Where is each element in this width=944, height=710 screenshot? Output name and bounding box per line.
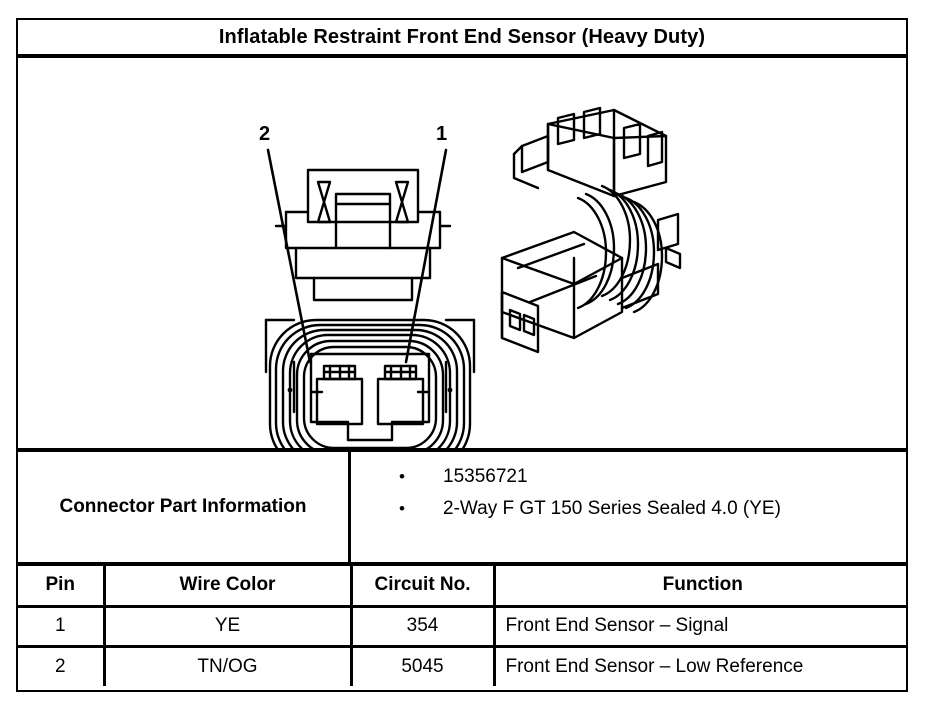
cell-function: Front End Sensor – Signal	[494, 606, 906, 646]
cell-circuit-no: 5045	[351, 646, 494, 686]
header-function: Function	[494, 566, 906, 606]
connector-part-information-row: Connector Part Information • 15356721 • …	[18, 452, 906, 566]
cell-function: Front End Sensor – Low Reference	[494, 646, 906, 686]
part-description-text: 2-Way F GT 150 Series Sealed 4.0 (YE)	[443, 498, 781, 520]
connector-part-information-label-text: Connector Part Information	[59, 496, 306, 518]
connector-latch-top	[276, 170, 450, 300]
table-row: 1 YE 354 Front End Sensor – Signal	[18, 606, 906, 646]
table-header-row: Pin Wire Color Circuit No. Function	[18, 566, 906, 606]
cell-wire-color: YE	[104, 606, 351, 646]
header-wire-color: Wire Color	[104, 566, 351, 606]
connector-line-art	[18, 62, 906, 452]
part-info-item: • 15356721	[399, 466, 906, 488]
connector-illustration: 2 1	[18, 62, 906, 452]
header-circuit-no: Circuit No.	[351, 566, 494, 606]
connector-face-outline	[266, 320, 474, 452]
terminal-cavity-right	[378, 366, 423, 424]
bullet-icon: •	[399, 468, 443, 485]
connector-part-information-label: Connector Part Information	[18, 452, 351, 562]
cell-wire-color: TN/OG	[104, 646, 351, 686]
title-band: Inflatable Restraint Front End Sensor (H…	[18, 20, 906, 58]
table-row: 2 TN/OG 5045 Front End Sensor – Low Refe…	[18, 646, 906, 686]
bullet-icon: •	[399, 500, 443, 517]
page-title: Inflatable Restraint Front End Sensor (H…	[219, 26, 705, 49]
connector-isometric-view	[502, 108, 680, 352]
cell-circuit-no: 354	[351, 606, 494, 646]
cell-pin: 1	[18, 606, 104, 646]
pin-table: Pin Wire Color Circuit No. Function 1 YE…	[18, 566, 906, 686]
cell-pin: 2	[18, 646, 104, 686]
connector-datasheet: Inflatable Restraint Front End Sensor (H…	[16, 18, 908, 692]
connector-part-information-values: • 15356721 • 2-Way F GT 150 Series Seale…	[351, 452, 906, 562]
part-info-item: • 2-Way F GT 150 Series Sealed 4.0 (YE)	[399, 498, 906, 520]
part-number-text: 15356721	[443, 466, 528, 488]
terminal-cavity-left	[317, 366, 362, 424]
header-pin: Pin	[18, 566, 104, 606]
